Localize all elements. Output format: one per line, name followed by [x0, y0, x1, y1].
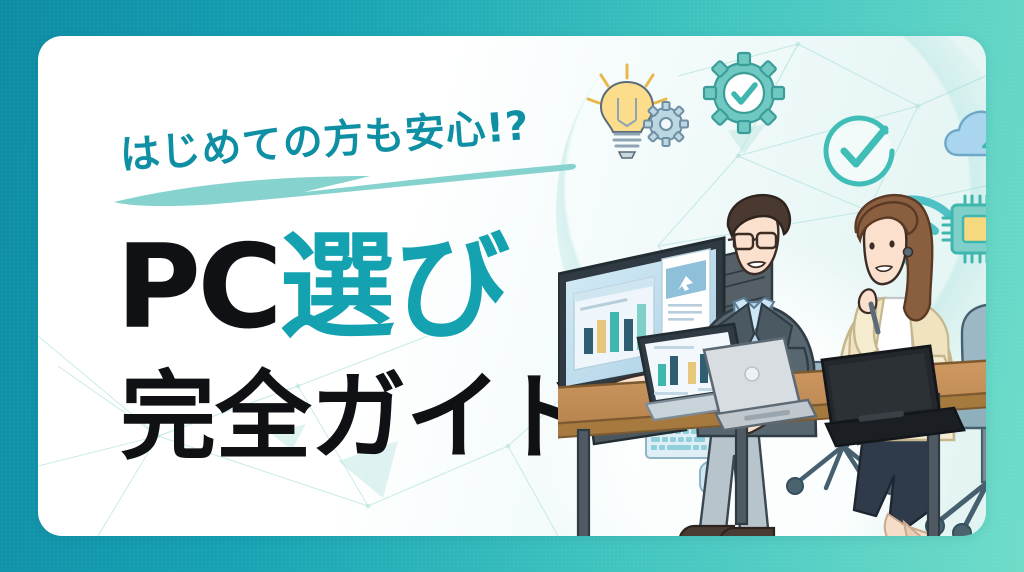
title-part-erabi: 選び — [279, 220, 509, 355]
banner-card: はじめての方も安心!? PC選び 完全ガイド — [38, 36, 986, 536]
gear-small-icon — [644, 102, 688, 146]
title-part-pc: PC — [116, 220, 279, 355]
banner-root: はじめての方も安心!? PC選び 完全ガイド — [0, 0, 1024, 572]
hero-illustration — [558, 36, 986, 536]
check-circle-icon — [826, 118, 892, 184]
gear-check-icon — [704, 53, 784, 133]
cpu-chip-icon — [943, 196, 986, 262]
eyebrow-wrapper: はじめての方も安心!? — [108, 122, 578, 202]
cloud-upload-icon — [945, 112, 986, 181]
headline-block: はじめての方も安心!? PC選び 完全ガイド — [38, 36, 598, 536]
